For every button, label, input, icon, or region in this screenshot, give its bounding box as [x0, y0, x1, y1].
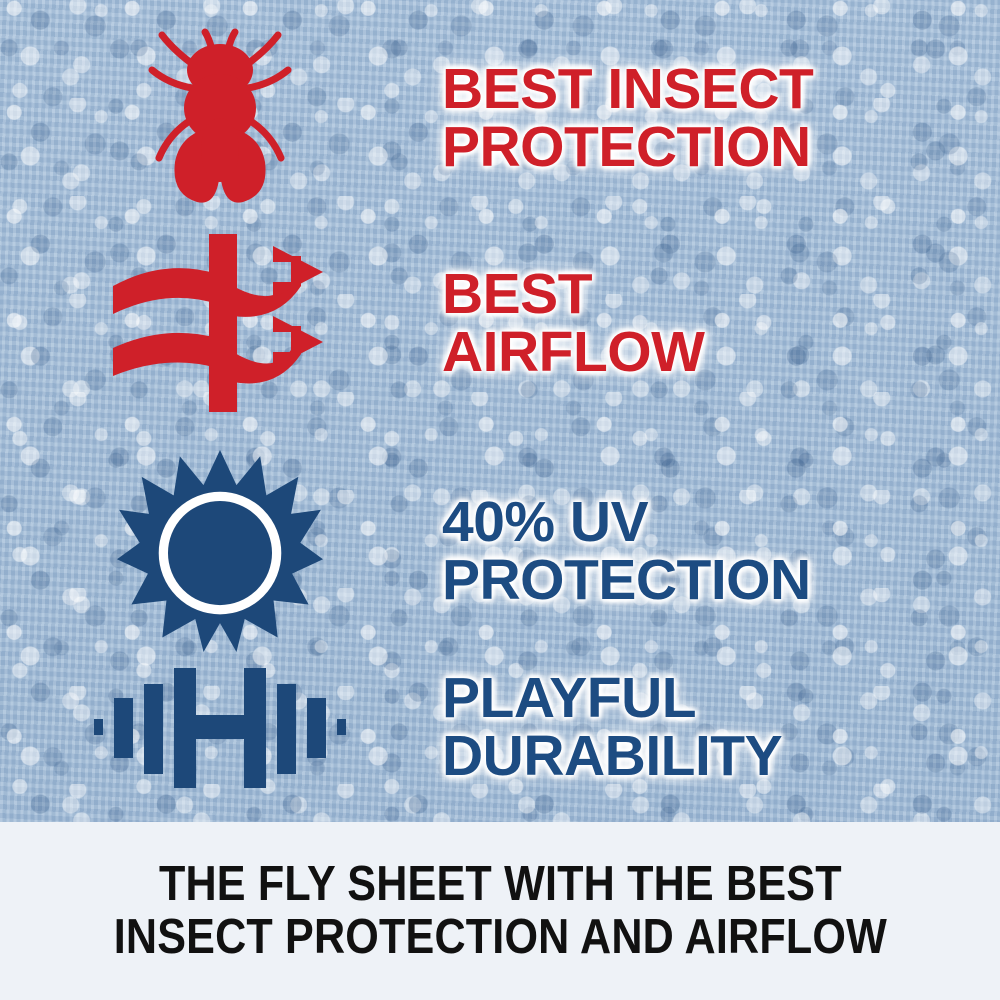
feature-row-durability: PLAYFUL DURABILITY	[0, 652, 1000, 802]
footer-bar: THE FLY SHEET WITH THE BEST INSECT PROTE…	[0, 822, 1000, 1000]
feature-label-insect-protection: BEST INSECT PROTECTION	[442, 60, 1000, 176]
icon-cell-airflow	[0, 230, 440, 416]
text-cell-durability: PLAYFUL DURABILITY	[440, 669, 1000, 785]
text-cell-insect-protection: BEST INSECT PROTECTION	[440, 60, 1000, 176]
text-cell-uv-protection: 40% UV PROTECTION	[440, 493, 1000, 609]
dumbbell-icon	[94, 662, 346, 792]
icon-cell-sun	[0, 448, 440, 654]
footer-headline: THE FLY SHEET WITH THE BEST INSECT PROTE…	[113, 858, 886, 965]
fly-icon	[135, 22, 305, 214]
icon-cell-dumbbell	[0, 662, 440, 792]
icon-cell-fly	[0, 22, 440, 214]
airflow-through-fabric-icon	[105, 230, 335, 416]
feature-label-airflow: BEST AIRFLOW	[442, 265, 1000, 381]
infographic-page: BEST INSECT PROTECTION	[0, 0, 1000, 1000]
feature-label-durability: PLAYFUL DURABILITY	[442, 669, 1000, 785]
feature-row-airflow: BEST AIRFLOW	[0, 228, 1000, 418]
feature-row-uv-protection: 40% UV PROTECTION	[0, 448, 1000, 654]
feature-row-insect-protection: BEST INSECT PROTECTION	[0, 18, 1000, 218]
text-cell-airflow: BEST AIRFLOW	[440, 265, 1000, 381]
feature-label-uv-protection: 40% UV PROTECTION	[442, 493, 1000, 609]
sun-uv-icon	[117, 448, 323, 654]
